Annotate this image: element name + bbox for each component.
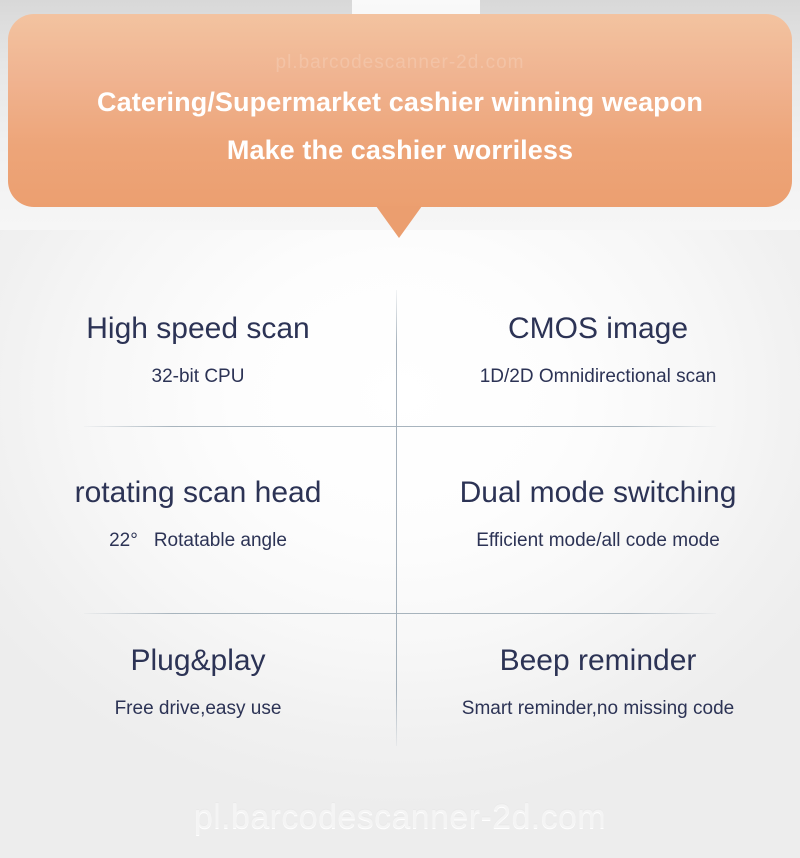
banner-headline-line-1: Catering/Supermarket cashier winning wea… xyxy=(8,78,792,126)
banner-watermark: pl.barcodescanner-2d.com xyxy=(8,52,792,74)
feature-subtitle: Smart reminder,no missing code xyxy=(400,696,796,722)
feature-subtitle: 32-bit CPU xyxy=(0,364,396,390)
feature-title: CMOS image xyxy=(400,308,796,350)
feature-cell-high-speed-scan: High speed scan 32-bit CPU xyxy=(0,308,396,390)
feature-cell-beep-reminder: Beep reminder Smart reminder,no missing … xyxy=(400,640,796,722)
feature-subtitle: 22°Rotatable angle xyxy=(0,528,396,554)
banner-arrow-icon xyxy=(376,206,422,238)
feature-grid: High speed scan 32-bit CPU CMOS image 1D… xyxy=(0,290,800,746)
feature-title: Dual mode switching xyxy=(400,472,796,514)
header-banner: pl.barcodescanner-2d.com Catering/Superm… xyxy=(8,14,792,207)
feature-cell-dual-mode-switching: Dual mode switching Efficient mode/all c… xyxy=(400,472,796,554)
footer-watermark: pl.barcodescanner-2d.com xyxy=(0,798,800,837)
feature-subtitle: Free drive,easy use xyxy=(0,696,396,722)
banner-headline: Catering/Supermarket cashier winning wea… xyxy=(8,78,792,174)
feature-cell-cmos-image: CMOS image 1D/2D Omnidirectional scan xyxy=(400,308,796,390)
grid-vertical-divider xyxy=(396,290,397,746)
grid-horizontal-divider-1 xyxy=(84,426,716,427)
feature-cell-plug-and-play: Plug&play Free drive,easy use xyxy=(0,640,396,722)
feature-cell-rotating-scan-head: rotating scan head 22°Rotatable angle xyxy=(0,472,396,554)
grid-horizontal-divider-2 xyxy=(84,613,716,614)
feature-subtitle: 1D/2D Omnidirectional scan xyxy=(400,364,796,390)
feature-title: High speed scan xyxy=(0,308,396,350)
feature-subtitle-value: 22° xyxy=(109,530,138,551)
feature-title: rotating scan head xyxy=(0,472,396,514)
feature-subtitle-label: Rotatable angle xyxy=(154,530,287,551)
banner-headline-line-2: Make the cashier worriless xyxy=(8,126,792,174)
feature-title: Plug&play xyxy=(0,640,396,682)
feature-subtitle: Efficient mode/all code mode xyxy=(400,528,796,554)
promo-page: pl.barcodescanner-2d.com Catering/Superm… xyxy=(0,0,800,858)
feature-title: Beep reminder xyxy=(400,640,796,682)
